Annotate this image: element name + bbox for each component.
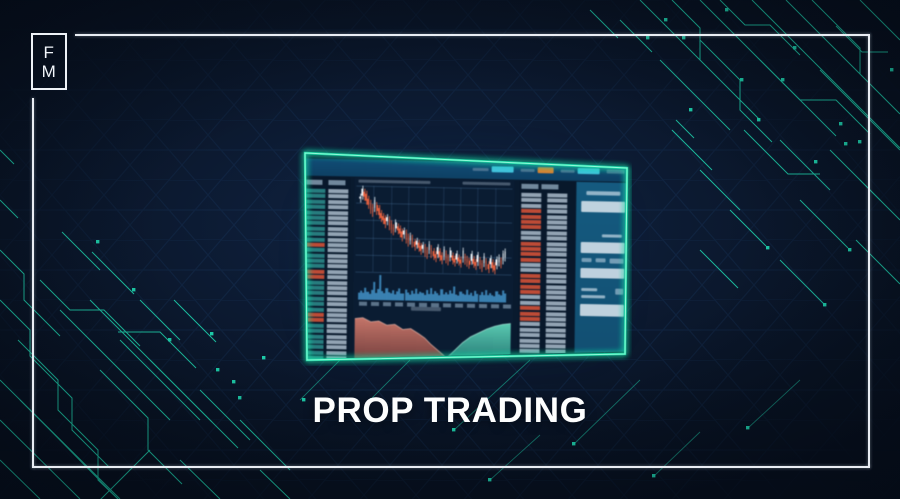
table-row bbox=[547, 226, 567, 230]
table-row bbox=[521, 252, 541, 256]
table-row bbox=[521, 204, 541, 208]
table-row bbox=[547, 258, 567, 262]
table-row bbox=[519, 349, 539, 353]
table-row bbox=[327, 318, 347, 322]
table-row bbox=[546, 344, 566, 348]
table-row bbox=[327, 340, 347, 344]
table-row bbox=[327, 275, 347, 279]
monitor-screen bbox=[301, 146, 627, 360]
frame-top bbox=[75, 34, 870, 36]
table-row bbox=[304, 264, 324, 268]
axis-tick-label bbox=[467, 304, 475, 308]
sidebar-toggle-1[interactable] bbox=[582, 258, 592, 262]
topbar-settings bbox=[607, 169, 625, 173]
table-row bbox=[521, 231, 541, 235]
order-book-right bbox=[517, 181, 575, 360]
right-col-header-2 bbox=[541, 184, 558, 189]
table-row bbox=[546, 274, 566, 278]
table-row bbox=[546, 280, 566, 284]
table-row bbox=[520, 344, 540, 348]
table-row bbox=[520, 317, 540, 321]
table-row bbox=[328, 238, 348, 242]
table-row bbox=[305, 226, 325, 230]
table-row bbox=[328, 216, 348, 220]
table-row bbox=[305, 216, 325, 220]
promo-graphic: F M bbox=[0, 0, 900, 499]
table-row bbox=[520, 311, 540, 315]
table-row bbox=[521, 236, 541, 240]
sidebar-icon-button[interactable] bbox=[615, 289, 623, 295]
table-row bbox=[520, 284, 540, 288]
table-row bbox=[327, 335, 347, 339]
table-row bbox=[521, 247, 541, 251]
table-row bbox=[546, 269, 566, 273]
table-row bbox=[520, 295, 540, 299]
sidebar-label-4 bbox=[581, 288, 597, 291]
sidebar-label-2 bbox=[602, 234, 622, 238]
table-row bbox=[304, 275, 324, 279]
table-row bbox=[520, 263, 540, 267]
table-row bbox=[546, 333, 566, 337]
right-col-header-1 bbox=[521, 184, 538, 189]
table-row bbox=[305, 194, 325, 198]
axis-tick-label bbox=[443, 303, 451, 307]
table-row bbox=[327, 291, 347, 295]
sidebar-input-2[interactable] bbox=[581, 242, 625, 254]
table-row bbox=[327, 281, 347, 285]
candlestick-chart bbox=[355, 186, 512, 275]
sentiment-area-chart bbox=[354, 313, 511, 360]
axis-tick-label bbox=[395, 302, 403, 306]
axis-tick-label bbox=[359, 302, 367, 306]
table-row bbox=[546, 285, 566, 289]
table-row bbox=[305, 189, 325, 193]
table-row bbox=[546, 312, 566, 316]
table-row bbox=[546, 301, 566, 305]
table-row bbox=[520, 338, 540, 342]
table-row bbox=[328, 227, 348, 231]
table-row bbox=[547, 231, 567, 235]
table-row bbox=[546, 263, 566, 267]
left-col-header-3 bbox=[328, 180, 345, 185]
table-row bbox=[546, 323, 566, 327]
frame-bottom bbox=[32, 466, 870, 468]
table-row bbox=[304, 286, 324, 290]
terminal-ui bbox=[301, 146, 627, 360]
terminal-sidebar bbox=[574, 182, 627, 360]
table-row bbox=[521, 241, 541, 245]
order-book-left bbox=[301, 176, 351, 360]
axis-tick-label bbox=[371, 302, 379, 306]
table-row bbox=[327, 259, 347, 263]
table-row bbox=[520, 328, 540, 332]
table-row bbox=[520, 290, 540, 294]
right-ladder-col-2 bbox=[545, 193, 567, 360]
table-row bbox=[305, 253, 325, 257]
axis-tick-label bbox=[491, 304, 499, 308]
fm-logo: F M bbox=[31, 33, 67, 90]
table-row bbox=[328, 232, 348, 236]
table-row bbox=[520, 274, 540, 278]
table-row bbox=[547, 220, 567, 224]
table-row bbox=[547, 193, 567, 197]
table-row bbox=[327, 329, 347, 333]
table-row bbox=[520, 306, 540, 310]
table-row bbox=[521, 193, 541, 197]
table-row bbox=[327, 297, 347, 301]
table-row bbox=[546, 339, 566, 343]
table-row bbox=[305, 248, 325, 252]
table-row bbox=[328, 211, 348, 215]
table-row bbox=[546, 306, 566, 310]
table-row bbox=[304, 296, 324, 300]
table-row bbox=[521, 225, 541, 229]
table-row bbox=[327, 264, 347, 268]
table-row bbox=[304, 307, 324, 311]
ticker-value-2 bbox=[538, 167, 554, 173]
table-row bbox=[328, 205, 348, 209]
ticker-value-1 bbox=[492, 166, 514, 172]
table-row bbox=[520, 322, 540, 326]
table-row bbox=[547, 253, 567, 257]
table-row bbox=[304, 269, 324, 273]
table-row bbox=[328, 194, 348, 198]
table-row bbox=[546, 290, 566, 294]
ticker-value-3 bbox=[578, 168, 600, 174]
volume-chart bbox=[355, 274, 511, 303]
table-row bbox=[520, 333, 540, 337]
table-row bbox=[547, 242, 567, 246]
candlestick bbox=[504, 249, 506, 262]
gridline bbox=[407, 187, 409, 273]
table-row bbox=[305, 221, 325, 225]
area-chart-label bbox=[411, 307, 441, 311]
logo-letter-f: F bbox=[44, 44, 55, 61]
table-row bbox=[327, 324, 347, 328]
table-row bbox=[305, 205, 325, 209]
gridline bbox=[425, 187, 427, 273]
table-row bbox=[305, 232, 325, 236]
table-row bbox=[521, 198, 541, 202]
table-row bbox=[547, 247, 567, 251]
trading-monitor bbox=[296, 141, 632, 366]
table-row bbox=[546, 296, 566, 300]
table-row bbox=[520, 301, 540, 305]
table-row bbox=[328, 243, 348, 247]
table-row bbox=[327, 270, 347, 274]
table-row bbox=[547, 236, 567, 240]
table-row bbox=[327, 302, 347, 306]
table-row bbox=[305, 199, 325, 203]
volume-bar bbox=[504, 293, 506, 302]
right-ladder-col-1 bbox=[519, 193, 541, 360]
sidebar-input-3[interactable] bbox=[580, 268, 624, 279]
table-row bbox=[547, 215, 567, 219]
table-row bbox=[305, 210, 325, 214]
sidebar-input-1[interactable] bbox=[581, 201, 625, 213]
gridline bbox=[356, 237, 512, 241]
table-row bbox=[328, 200, 348, 204]
table-row bbox=[521, 220, 541, 224]
table-row bbox=[304, 302, 324, 306]
table-row bbox=[520, 268, 540, 272]
axis-tick-label bbox=[503, 304, 511, 308]
left-ladder-col-3 bbox=[326, 189, 348, 360]
table-row bbox=[305, 242, 325, 246]
table-row bbox=[328, 248, 348, 252]
left-col-header-2 bbox=[305, 180, 322, 185]
table-row bbox=[326, 351, 346, 355]
page-title: PROP TRADING bbox=[0, 391, 900, 431]
table-row bbox=[546, 317, 566, 321]
table-row bbox=[327, 286, 347, 290]
table-row bbox=[326, 345, 346, 349]
table-row bbox=[304, 280, 324, 284]
axis-tick-label bbox=[383, 302, 391, 306]
table-row bbox=[547, 209, 567, 213]
table-row bbox=[546, 328, 566, 332]
table-row bbox=[304, 291, 324, 295]
table-row bbox=[327, 308, 347, 312]
table-row bbox=[521, 257, 541, 261]
sidebar-title bbox=[586, 191, 620, 196]
sidebar-toggle-2[interactable] bbox=[596, 258, 606, 262]
table-row bbox=[521, 214, 541, 218]
table-row bbox=[547, 199, 567, 203]
table-row bbox=[305, 237, 325, 241]
logo-letter-m: M bbox=[42, 63, 57, 80]
table-row bbox=[520, 279, 540, 283]
table-row bbox=[547, 204, 567, 208]
table-row bbox=[304, 259, 324, 263]
axis-tick-label bbox=[479, 304, 487, 308]
sidebar-toggle-3[interactable] bbox=[610, 259, 624, 264]
table-row bbox=[327, 313, 347, 317]
sidebar-input-4[interactable] bbox=[580, 304, 624, 317]
table-row bbox=[328, 221, 348, 225]
sidebar-label-5 bbox=[581, 295, 605, 299]
table-row bbox=[328, 254, 348, 258]
axis-tick-label bbox=[455, 304, 463, 308]
table-row bbox=[328, 189, 348, 193]
table-row bbox=[521, 209, 541, 213]
